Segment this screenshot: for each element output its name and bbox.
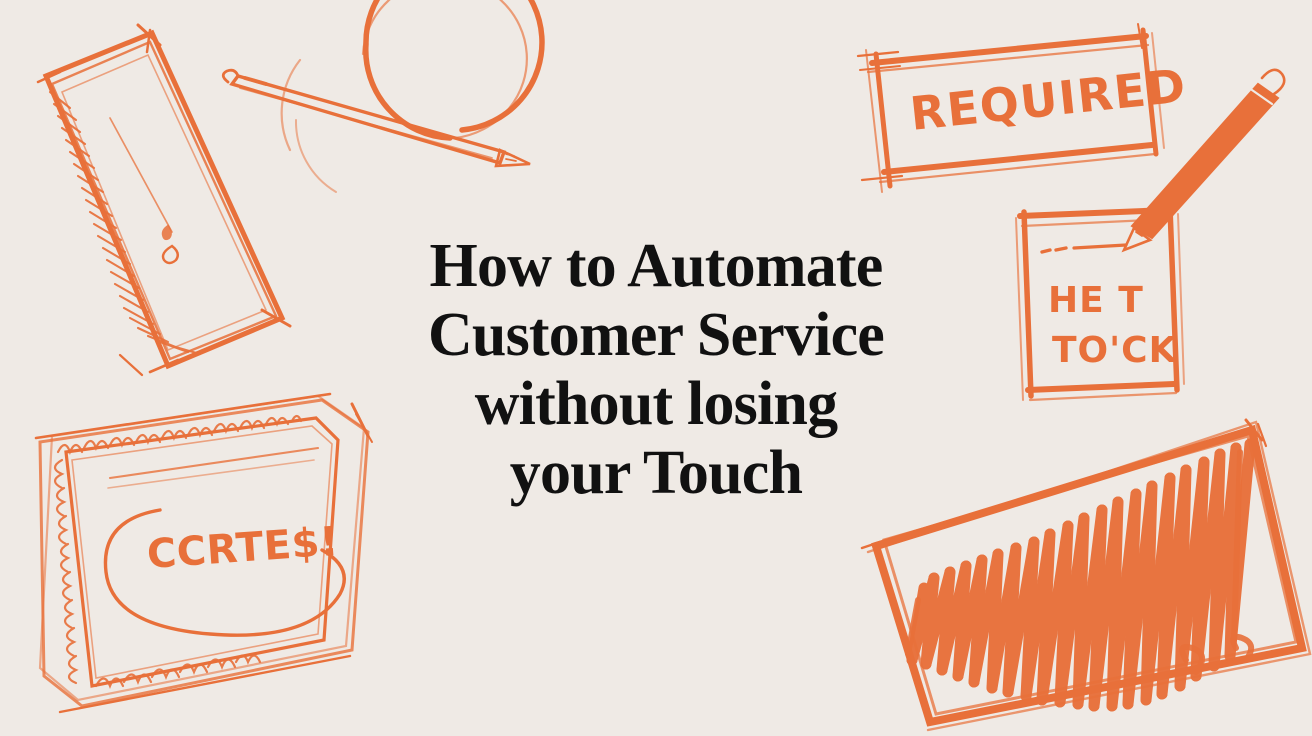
tablet-sketch	[38, 25, 290, 375]
framed-note-label: CCRTE$!	[145, 519, 340, 578]
title-line-3: without losing	[336, 370, 976, 439]
sticky-note-line-2: TO'CK	[1052, 330, 1178, 371]
sticky-note-line-1: HE T	[1048, 280, 1144, 321]
circle-and-pencil-sketch	[223, 0, 542, 192]
title-line-1: How to Automate	[336, 232, 976, 301]
sticky-note-sketch: HE T TO'CK	[1016, 208, 1184, 400]
page-title: How to Automate Customer Service without…	[336, 232, 976, 508]
title-line-2: Customer Service	[336, 301, 976, 370]
required-stamp-sketch: REQUIRED	[858, 24, 1189, 192]
title-line-4: your Touch	[336, 439, 976, 508]
framed-note-sketch: CCRTE$!	[36, 394, 372, 712]
hero-banner: REQUIRED HE T TO'CK	[0, 0, 1312, 736]
required-stamp-label: REQUIRED	[908, 58, 1190, 141]
